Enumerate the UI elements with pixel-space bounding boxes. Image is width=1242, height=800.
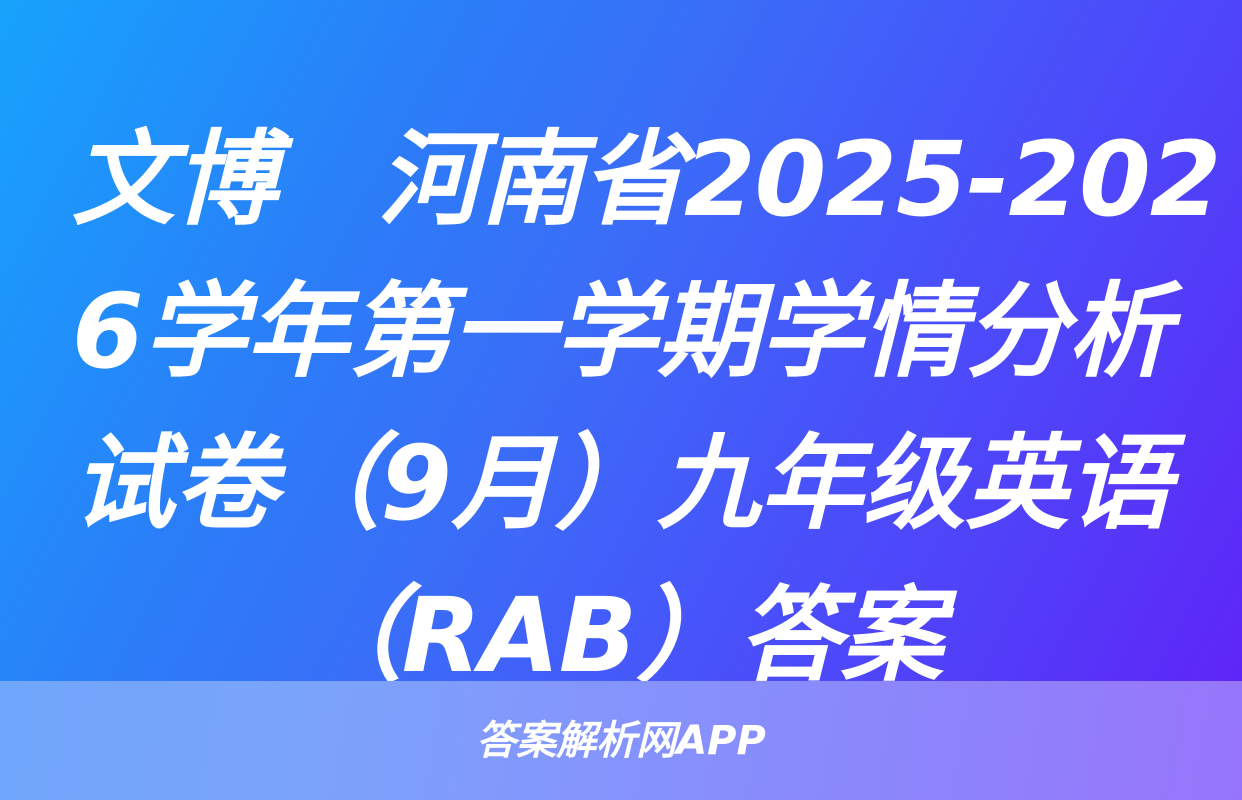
title-line-1: 文博 河南省2025-202	[72, 104, 1170, 256]
title-line-3: 试卷（9月）九年级英语	[72, 408, 1170, 560]
poster-card: 文博 河南省2025-202 6学年第一学期学情分析 试卷（9月）九年级英语 （…	[0, 0, 1242, 800]
page-title: 文博 河南省2025-202 6学年第一学期学情分析 试卷（9月）九年级英语 （…	[0, 104, 1242, 712]
app-brand-label: 答案解析网APP	[476, 721, 766, 761]
title-line-2: 6学年第一学期学情分析	[72, 256, 1170, 408]
footer-brand-band: 答案解析网APP	[0, 681, 1242, 800]
